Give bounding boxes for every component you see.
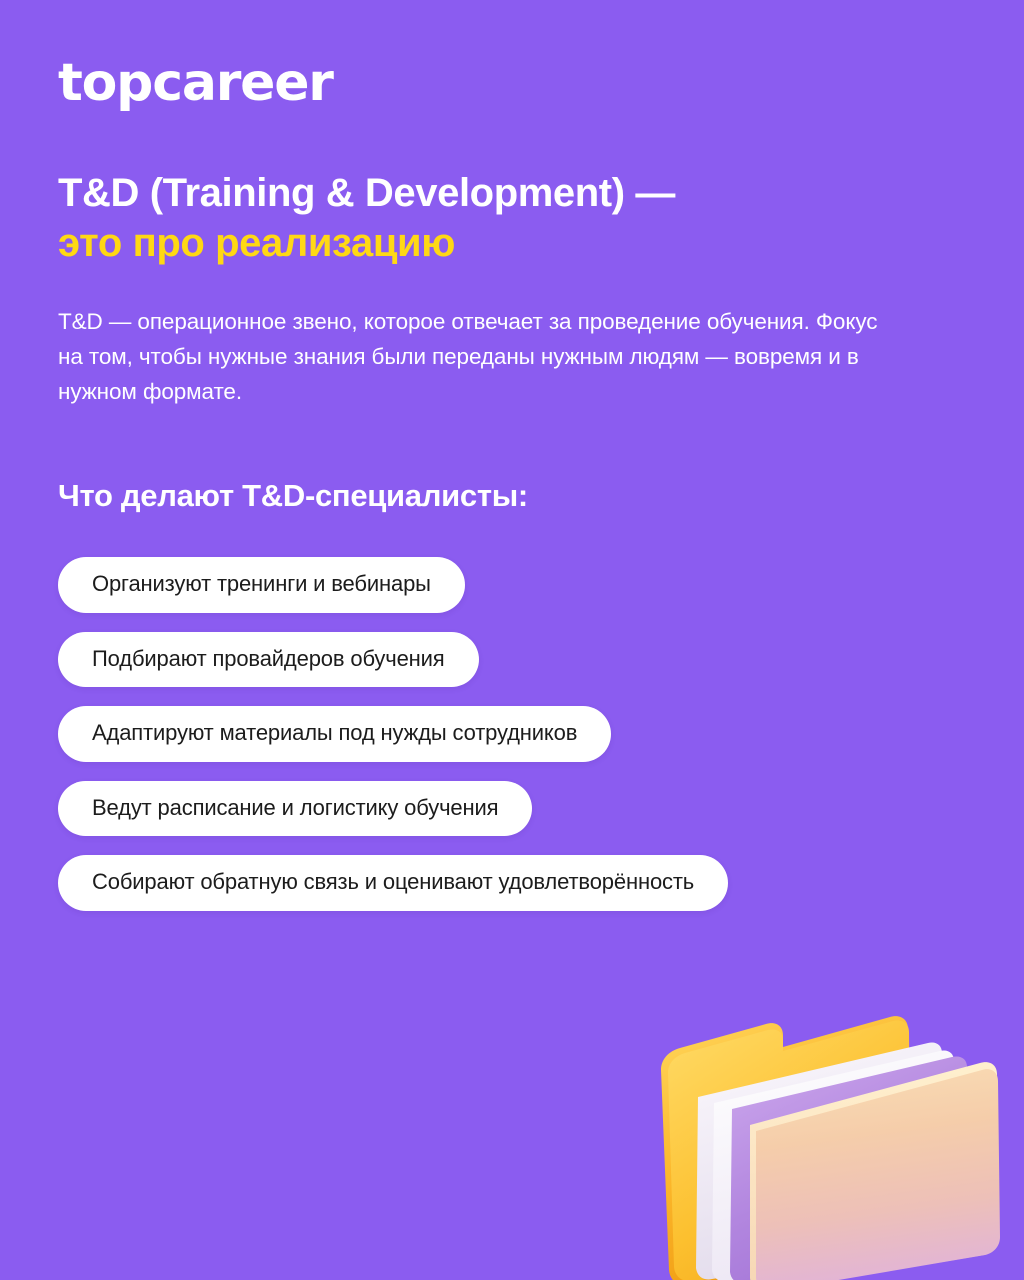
slide-canvas: topcareer T&D (Training & Development) —… [0,0,1024,1280]
responsibility-pill-list: Организуют тренинги и вебинары Подбирают… [58,557,728,911]
list-item: Ведут расписание и логистику обучения [58,781,532,837]
list-item: Адаптируют материалы под нужды сотрудник… [58,706,611,762]
section-heading: Что делают T&D-специалисты: [58,478,528,514]
page-title-line-1: T&D (Training & Development) — [58,171,675,215]
list-item: Организуют тренинги и вебинары [58,557,465,613]
brand-logo: topcareer [58,57,333,109]
folder-illustration [628,985,1024,1280]
list-item: Подбирают провайдеров обучения [58,632,479,688]
lead-paragraph: T&D — операционное звено, которое отвеча… [58,305,888,410]
list-item: Собирают обратную связь и оценивают удов… [58,855,728,911]
page-title-line-2: это про реализацию [58,218,938,268]
page-title: T&D (Training & Development) — это про р… [58,168,938,269]
